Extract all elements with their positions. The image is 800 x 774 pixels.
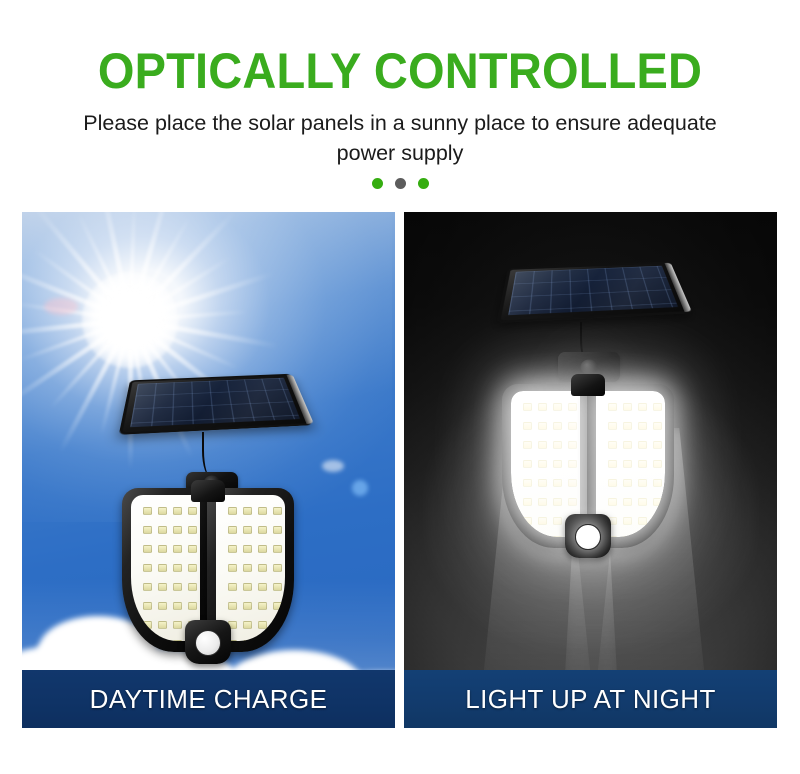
led-array-left [143,507,190,619]
lens-flare-pink [44,298,78,315]
solar-light-product-night [496,248,686,578]
led-array-left [523,403,570,515]
panel-daytime [22,212,395,728]
comparison-panels [22,212,778,728]
sensor-dome-icon [195,630,221,656]
solar-light-product-day [118,360,308,690]
led-array-right [608,403,655,515]
caption-daytime-charge: DAYTIME CHARGE [22,670,395,728]
head-neck [571,374,605,396]
sensor-dome-icon [575,524,601,550]
panel-night [404,212,777,728]
sun-icon [82,272,178,368]
solar-panel [119,374,313,435]
night-background [404,212,777,728]
product-feature-slide: OPTICALLY CONTROLLED Please place the so… [0,0,800,774]
caption-bars: DAYTIME CHARGE LIGHT UP AT NIGHT [22,670,778,728]
pir-motion-sensor [185,620,231,664]
page-title: OPTICALLY CONTROLLED [24,44,776,98]
lens-flare-blue [352,480,368,496]
led-array-right [228,507,275,619]
pagination-dot-2[interactable] [395,178,406,189]
pir-motion-sensor [565,514,611,558]
caption-light-up-at-night: LIGHT UP AT NIGHT [404,670,777,728]
lens-flare-white [322,460,344,472]
led-head [122,488,294,656]
solar-panel [497,262,691,323]
sky-background [22,212,395,728]
pagination-dot-3[interactable] [418,178,429,189]
head-neck [191,480,225,502]
page-subtitle: Please place the solar panels in a sunny… [60,108,740,168]
led-head [502,384,674,552]
pagination-dots[interactable] [0,178,800,189]
pagination-dot-1[interactable] [372,178,383,189]
